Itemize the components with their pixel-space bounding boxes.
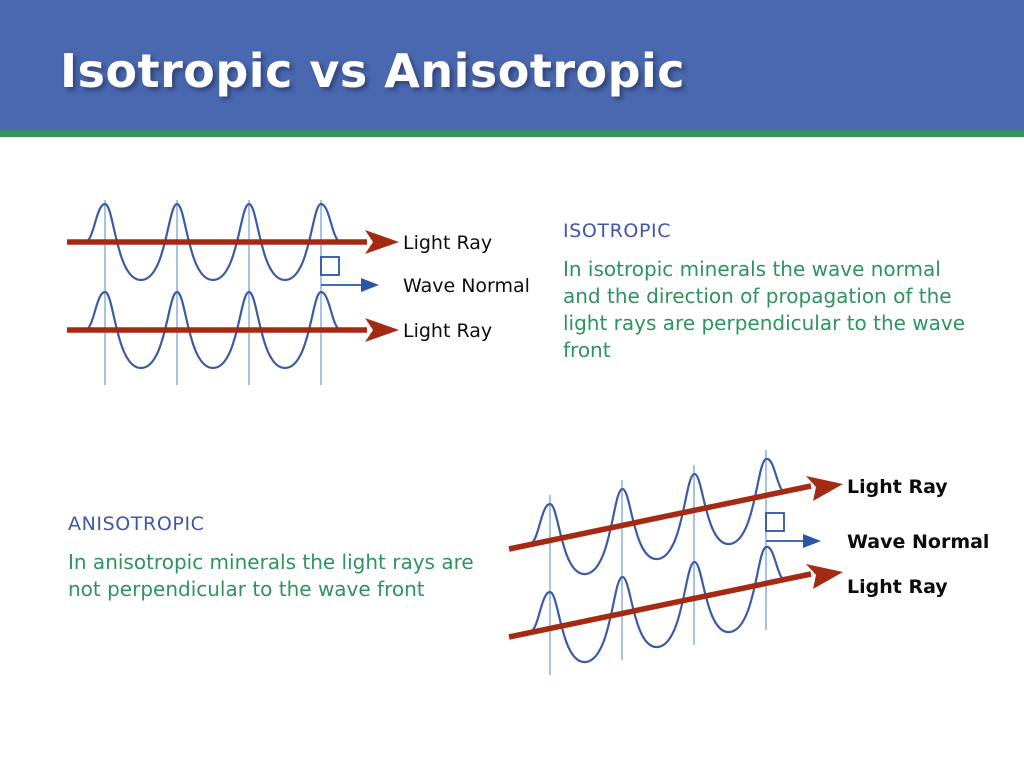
isotropic-body: In isotropic minerals the wave normal an… bbox=[563, 256, 973, 364]
anisotropic-body: In anisotropic minerals the light rays a… bbox=[68, 549, 483, 603]
title-divider-rule bbox=[0, 130, 1024, 137]
label-light-ray-top: Light Ray bbox=[847, 476, 948, 498]
wavefront-lines-isotropic bbox=[105, 200, 321, 385]
label-light-ray-bottom: Light Ray bbox=[847, 576, 948, 598]
anisotropic-heading: ANISOTROPIC bbox=[68, 513, 483, 535]
anisotropic-text-block: ANISOTROPIC In anisotropic minerals the … bbox=[68, 513, 483, 603]
anisotropic-wave-diagram: Light Ray Wave Normal Light Ray bbox=[495, 445, 1005, 690]
isotropic-text-block: ISOTROPIC In isotropic minerals the wave… bbox=[563, 220, 973, 364]
label-light-ray-top: Light Ray bbox=[403, 232, 492, 254]
label-light-ray-bottom: Light Ray bbox=[403, 320, 492, 342]
light-ray-arrow-top bbox=[67, 230, 399, 254]
label-wave-normal: Wave Normal bbox=[403, 275, 530, 297]
light-ray-arrow-bottom bbox=[67, 318, 399, 342]
wave-normal-arrow bbox=[766, 513, 821, 548]
wavefront-lines-anisotropic bbox=[550, 450, 766, 675]
page-title: Isotropic vs Anisotropic bbox=[60, 44, 685, 98]
label-wave-normal: Wave Normal bbox=[847, 531, 989, 553]
isotropic-wave-diagram: Light Ray Wave Normal Light Ray bbox=[55, 185, 535, 400]
wave-normal-arrow bbox=[321, 257, 379, 292]
isotropic-heading: ISOTROPIC bbox=[563, 220, 973, 242]
